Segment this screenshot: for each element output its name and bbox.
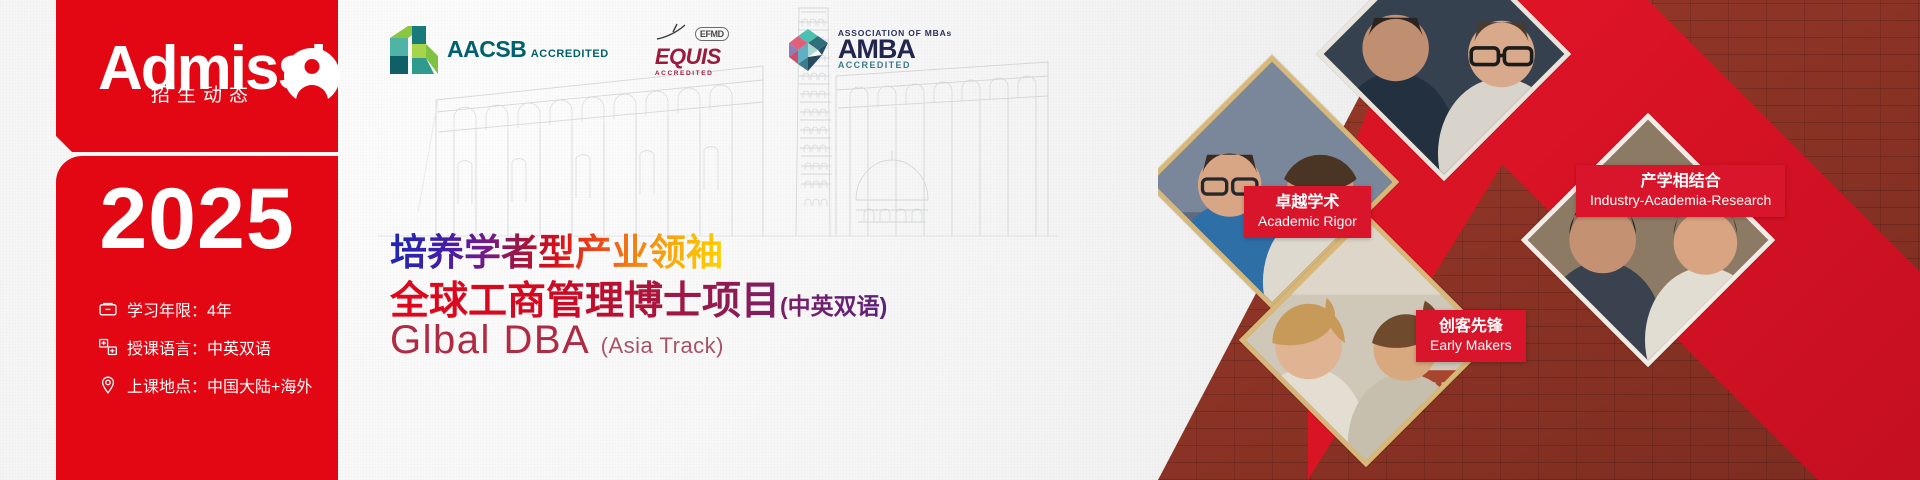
person-in-circle-icon (284, 48, 340, 104)
admission-cn-label: 招生动态 (151, 80, 255, 107)
program-name-en-track: (Asia Track) (601, 333, 724, 358)
amba-name: AMBA (838, 37, 952, 61)
aacsb-text: AACSB ACCREDITED (447, 37, 609, 62)
location-pin-icon (98, 375, 118, 395)
photo-label-cn: 卓越学术 (1258, 193, 1357, 213)
calendar-icon (98, 299, 118, 319)
amba-logo: ASSOCIATION OF MBAs AMBA ACCREDITED (785, 27, 952, 73)
info-item-label: 学习年限：4年 (127, 297, 232, 321)
program-name-en: Glbal DBA (Asia Track) (390, 318, 724, 363)
amba-sub: ACCREDITED (838, 61, 952, 70)
info-item-label: 授课语言：中英双语 (127, 335, 271, 359)
photo-label-academic: 卓越学术 Academic Rigor (1244, 186, 1371, 238)
amba-diamond-icon (785, 27, 831, 73)
amba-text: ASSOCIATION OF MBAs AMBA ACCREDITED (838, 29, 952, 71)
year-label: 2025 (56, 176, 338, 262)
photo-collage: 卓越学术 Academic Rigor 产学相结合 Industry-Acade… (1158, 0, 1920, 480)
photo-label-industry: 产学相结合 Industry-Academia-Research (1576, 165, 1785, 217)
center-content: AACSB ACCREDITED EFMD EQUIS ACCREDITED (338, 0, 1158, 480)
equis-top-row: EFMD (655, 24, 739, 44)
equis-logo: EFMD EQUIS ACCREDITED (655, 22, 739, 77)
person-head-shape (305, 59, 320, 74)
photo-label-cn: 产学相结合 (1590, 172, 1771, 192)
aacsb-name: AACSB (447, 36, 526, 62)
photo-label-cn: 创客先锋 (1430, 317, 1512, 337)
info-item-label: 上课地点：中国大陆+海外 (127, 373, 312, 397)
program-info-list: 学习年限：4年 授课语言：中英双语 (56, 290, 338, 404)
info-item-language: 授课语言：中英双语 (98, 328, 338, 366)
photo-label-en: Academic Rigor (1258, 213, 1357, 230)
accreditation-logo-row: AACSB ACCREDITED EFMD EQUIS ACCREDITED (386, 22, 952, 77)
admission-banner: Admissi 招生动态 2025 学习年限：4年 (0, 0, 1920, 480)
program-name-cn-paren: (中英双语) (780, 293, 887, 319)
equis-name: EQUIS (655, 44, 739, 70)
aacsb-sub: ACCREDITED (531, 48, 609, 60)
aacsb-logo: AACSB ACCREDITED (386, 24, 609, 76)
program-name-en-text: Glbal DBA (390, 318, 588, 362)
admission-logo: Admissi 招生动态 (56, 22, 338, 112)
photo-label-en: Industry-Academia-Research (1590, 192, 1771, 209)
person-body-shape (296, 85, 328, 104)
equis-sub: ACCREDITED (655, 70, 739, 77)
tagline-headline: 培养学者型产业领袖 (390, 222, 723, 276)
photo-label-en: Early Makers (1430, 337, 1512, 354)
language-icon (98, 337, 118, 357)
info-item-duration: 学习年限：4年 (98, 290, 338, 328)
efmd-badge: EFMD (695, 27, 729, 41)
program-name-cn-text: 全球工商管理博士项目 (390, 280, 780, 323)
left-red-panel: Admissi 招生动态 2025 学习年限：4年 (0, 0, 338, 480)
info-item-location: 上课地点：中国大陆+海外 (98, 366, 338, 404)
aacsb-squares-icon (386, 24, 438, 76)
equis-swoosh-icon (655, 23, 689, 46)
photo-label-makers: 创客先锋 Early Makers (1416, 310, 1526, 362)
